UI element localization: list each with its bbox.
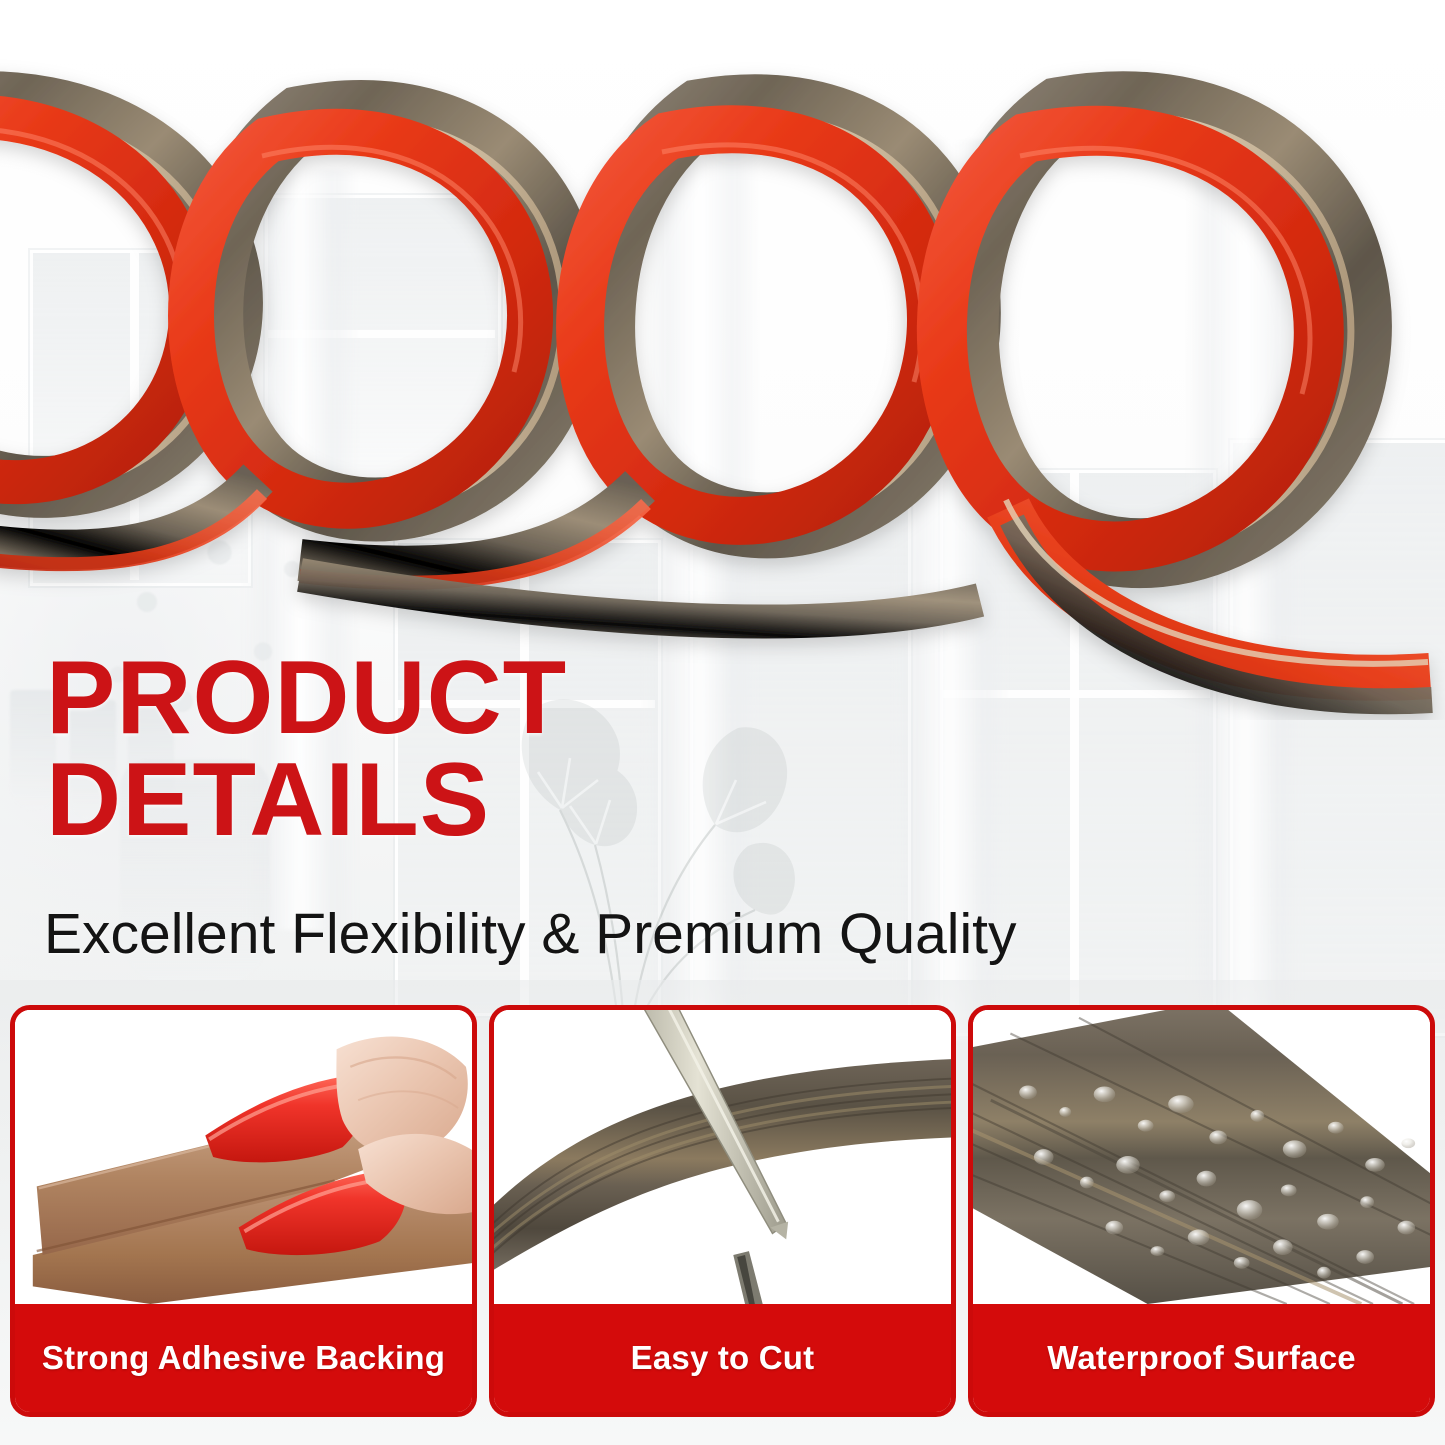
product-details-infographic: PRODUCT DETAILS Excellent Flexibility & …	[0, 0, 1445, 1445]
hand-peeling-red-adhesive-liner-photo	[15, 1010, 472, 1304]
feature-card-row: Strong Adhesive Backing	[0, 1005, 1445, 1417]
feature-card-waterproof-surface[interactable]: Waterproof Surface	[968, 1005, 1435, 1417]
feature-card-strong-adhesive-backing[interactable]: Strong Adhesive Backing	[10, 1005, 477, 1417]
headline-line-2: DETAILS	[46, 750, 746, 852]
water-droplets-on-trim-photo	[973, 1010, 1430, 1304]
scissors-cutting-trim-photo	[494, 1010, 951, 1304]
feature-caption-strong-adhesive-backing: Strong Adhesive Backing	[15, 1304, 472, 1412]
subtitle: Excellent Flexibility & Premium Quality	[44, 905, 1016, 965]
headline-line-1: PRODUCT	[46, 648, 746, 750]
hero-product-image	[0, 0, 1445, 720]
feature-caption-easy-to-cut: Easy to Cut	[494, 1304, 951, 1412]
feature-caption-waterproof-surface: Waterproof Surface	[973, 1304, 1430, 1412]
headline-block: PRODUCT DETAILS	[46, 648, 746, 852]
feature-card-easy-to-cut[interactable]: Easy to Cut	[489, 1005, 956, 1417]
